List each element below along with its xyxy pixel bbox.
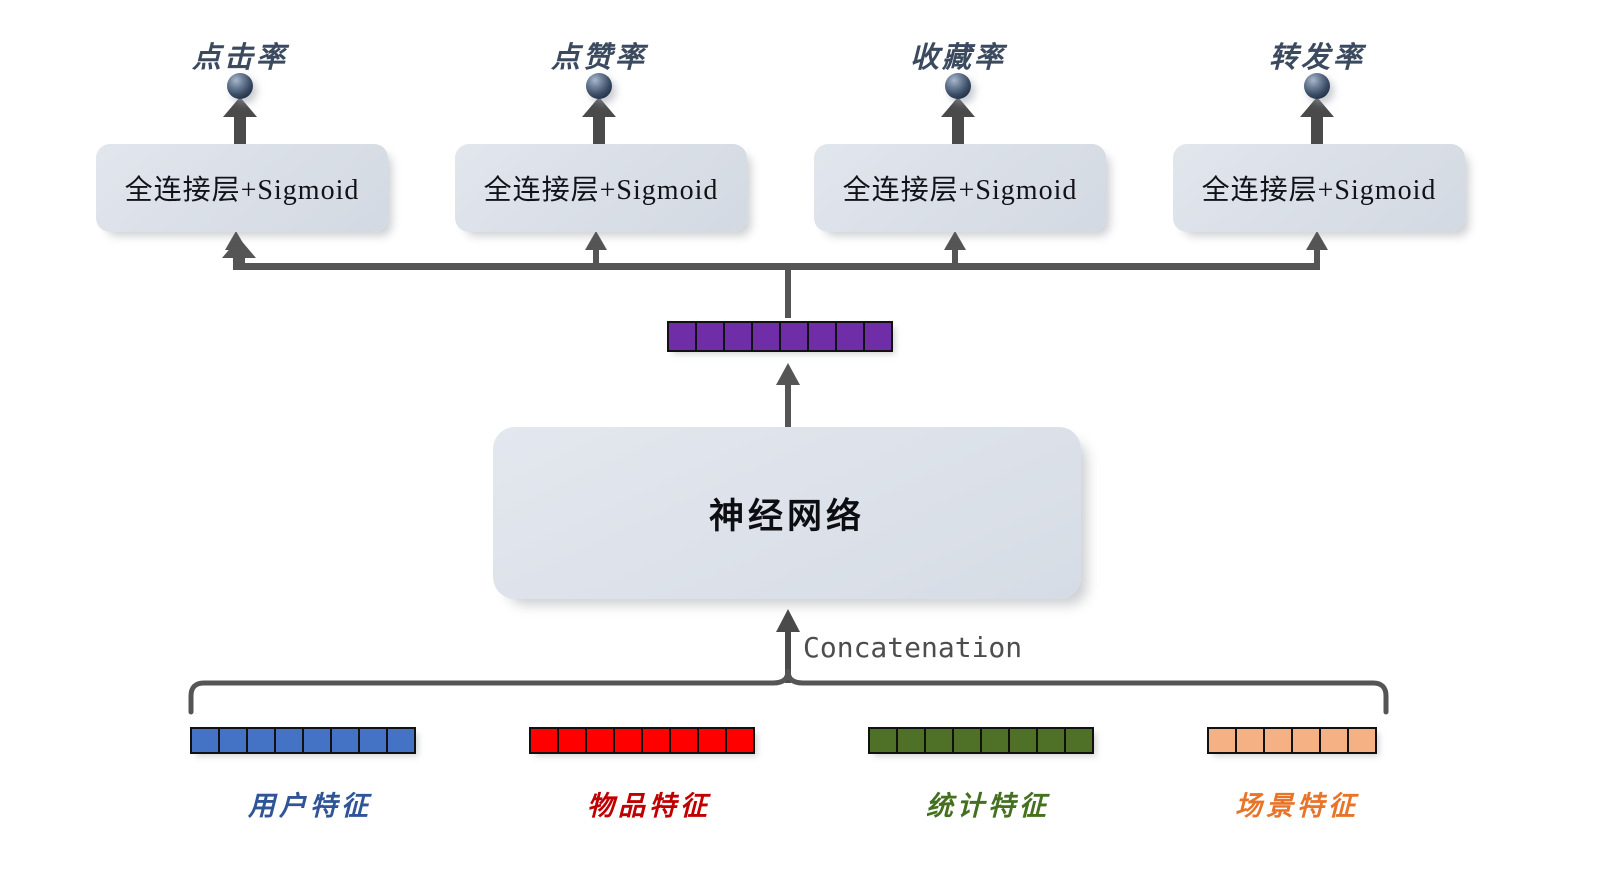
feature-vector-item [529,727,755,754]
fc-sigmoid-label-1: 全连接层+Sigmoid [125,168,360,208]
feature-vector-cell [1008,727,1038,754]
feature-vector-cell [1319,727,1349,754]
feature-vector-cell [246,727,276,754]
fc-sigmoid-box-4[interactable]: 全连接层+Sigmoid [1173,144,1465,232]
feature-vector-cell [669,727,699,754]
feature-vector-cell [896,727,926,754]
feature-vector-cell [868,727,898,754]
feature-vector-cell [1036,727,1066,754]
concatenation-label: Concatenation [803,631,1022,664]
feature-vector-cell [1235,727,1265,754]
output-label-favorite-rate: 收藏率 [910,34,1006,76]
feature-vector-statistics [868,727,1094,754]
feature-vector-cell [1064,727,1094,754]
feature-vector-cell [557,727,587,754]
fc-sigmoid-box-3[interactable]: 全连接层+Sigmoid [814,144,1106,232]
feature-vector-cell [358,727,388,754]
shared-to-fc-bus [222,231,1328,318]
feature-vector-cell [585,727,615,754]
feature-label-user: 用户特征 [248,784,372,823]
diagram-canvas: 点击率 点赞率 收藏率 转发率 全连接层+Sigmoid 全连接层+Sigmoi… [0,0,1597,895]
feature-vector-cell [386,727,416,754]
feature-label-statistics: 统计特征 [926,784,1050,823]
feature-vector-cell [1291,727,1321,754]
output-label-like-rate: 点赞率 [551,34,647,76]
fc-sigmoid-box-2[interactable]: 全连接层+Sigmoid [455,144,747,232]
shared-vector-cell [723,321,753,352]
feature-vector-cell [980,727,1010,754]
fc-sigmoid-label-3: 全连接层+Sigmoid [843,168,1078,208]
feature-vector-cell [529,727,559,754]
feature-brace [191,671,1386,712]
feature-vector-cell [725,727,755,754]
shared-vector-cell [779,321,809,352]
shared-representation-vector [667,321,893,352]
feature-vector-cell [613,727,643,754]
feature-label-scene: 场景特征 [1235,784,1359,823]
neural-network-label: 神经网络 [709,488,865,539]
nn-to-shared-arrow [776,363,800,427]
feature-label-item: 物品特征 [587,784,711,823]
shared-vector-cell [667,321,697,352]
feature-vector-cell [330,727,360,754]
fc-sigmoid-box-1[interactable]: 全连接层+Sigmoid [96,144,388,232]
feature-vector-cell [1263,727,1293,754]
shared-vector-cell [751,321,781,352]
shared-vector-cell [695,321,725,352]
feature-vector-cell [190,727,220,754]
feature-vector-scene [1207,727,1377,754]
feature-vector-cell [274,727,304,754]
output-label-share-rate: 转发率 [1269,34,1365,76]
feature-vector-cell [1347,727,1377,754]
feature-vector-cell [218,727,248,754]
fc-to-output-arrows [223,97,1334,144]
feature-vector-cell [641,727,671,754]
shared-vector-cell [807,321,837,352]
feature-vector-cell [952,727,982,754]
feature-vector-cell [697,727,727,754]
output-nodes [227,73,1330,99]
feature-vector-user [190,727,416,754]
feature-vector-cell [1207,727,1237,754]
feature-vector-cell [924,727,954,754]
fc-sigmoid-label-4: 全连接层+Sigmoid [1202,168,1437,208]
shared-vector-cell [863,321,893,352]
output-label-ctr: 点击率 [192,34,288,76]
fc-sigmoid-label-2: 全连接层+Sigmoid [484,168,719,208]
neural-network-box[interactable]: 神经网络 [493,427,1081,599]
feature-vector-cell [302,727,332,754]
shared-vector-cell [835,321,865,352]
